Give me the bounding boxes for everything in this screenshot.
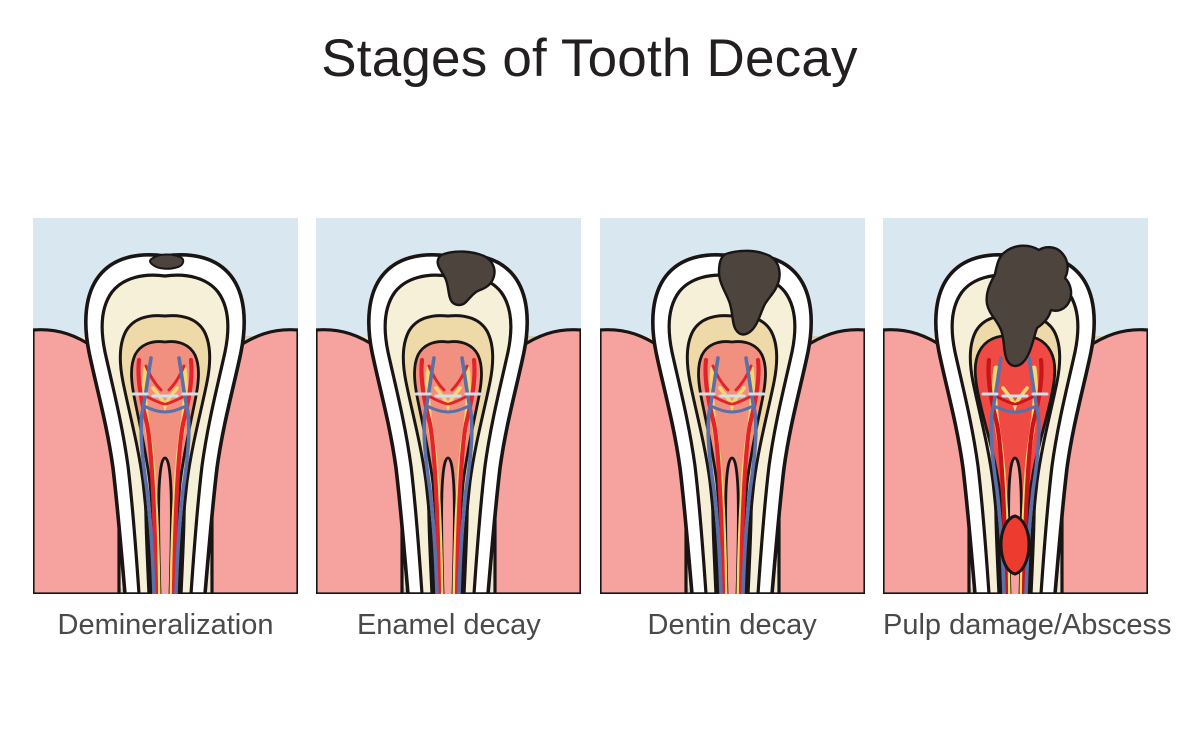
- page-title: Stages of Tooth Decay: [0, 29, 1179, 88]
- stage-card-3[interactable]: [600, 218, 865, 594]
- decay-lesion: [150, 254, 183, 268]
- tooth-decay-infographic: Stages of Tooth Decay: [0, 0, 1179, 745]
- stage-card-4[interactable]: [883, 218, 1148, 594]
- stage-card-2[interactable]: [316, 218, 581, 594]
- stage-label-4: Pulp damage/Abscess: [883, 608, 1148, 643]
- tooth-diagram-stage-4: [883, 218, 1148, 594]
- abscess: [1001, 516, 1029, 574]
- stages-row: [33, 218, 1148, 594]
- stage-card-1[interactable]: [33, 218, 298, 594]
- tooth-diagram-stage-2: [316, 218, 581, 594]
- tooth-diagram-stage-1: [33, 218, 298, 594]
- stage-label-1: Demineralization: [33, 608, 298, 643]
- stage-labels-row: Demineralization Enamel decay Dentin dec…: [33, 608, 1148, 658]
- stage-label-3: Dentin decay: [600, 608, 865, 643]
- stage-label-2: Enamel decay: [316, 608, 581, 643]
- tooth-diagram-stage-3: [600, 218, 865, 594]
